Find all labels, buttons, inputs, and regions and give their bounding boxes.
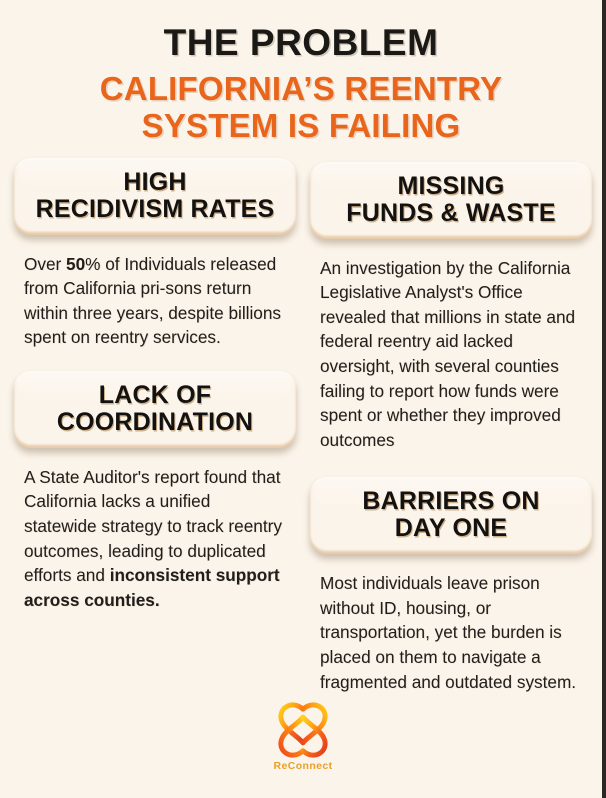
card-heading-line-1: LACK OF	[26, 382, 284, 409]
page-subtitle: CALIFORNIA’S REENTRY SYSTEM IS FAILING	[0, 70, 602, 145]
card-heading-line-2: DAY ONE	[322, 515, 580, 542]
card-heading-barriers-on-day-one: BARRIERS ON DAY ONE	[310, 477, 592, 554]
page-title: THE PROBLEM	[0, 24, 602, 63]
footer-branding: ReConnect	[0, 701, 606, 772]
body-pre: Over	[24, 254, 66, 274]
card-heading-line-2: RECIDIVISM RATES	[26, 196, 284, 223]
body-post: Most individuals leave prison without ID…	[320, 573, 576, 691]
card-body-missing-funds-and-waste: An investigation by the California Legis…	[310, 256, 592, 453]
card-body-barriers-on-day-one: Most individuals leave prison without ID…	[310, 571, 592, 694]
card-heading-missing-funds-and-waste: MISSING FUNDS & WASTE	[310, 162, 592, 239]
page-title-block: THE PROBLEM CALIFORNIA’S REENTRY SYSTEM …	[0, 0, 602, 145]
card-heading-line-1: HIGH	[26, 169, 284, 196]
page-subtitle-line-2: SYSTEM IS FAILING	[0, 107, 602, 145]
infographic-page: THE PROBLEM CALIFORNIA’S REENTRY SYSTEM …	[0, 0, 606, 798]
body-highlight: 50	[66, 254, 85, 274]
page-subtitle-line-1: CALIFORNIA’S REENTRY	[0, 70, 602, 108]
card-heading-lack-of-coordination: LACK OF COORDINATION	[14, 371, 296, 448]
card-body-lack-of-coordination: A State Auditor's report found that Cali…	[14, 465, 296, 613]
body-post: An investigation by the California Legis…	[320, 258, 575, 450]
card-heading-line-1: BARRIERS ON	[322, 488, 580, 515]
card-body-high-recidivism-rates: Over 50% of Individuals released from Ca…	[14, 252, 296, 350]
card-heading-line-2: FUNDS & WASTE	[322, 200, 580, 227]
reconnect-knot-icon	[272, 701, 334, 759]
card-heading-line-2: COORDINATION	[26, 409, 284, 436]
card-heading-high-recidivism-rates: HIGH RECIDIVISM RATES	[14, 158, 296, 235]
logo-wordmark: ReConnect	[273, 760, 332, 772]
card-heading-line-1: MISSING	[322, 173, 580, 200]
left-column: HIGH RECIDIVISM RATES Over 50% of Indivi…	[14, 158, 296, 628]
right-column: MISSING FUNDS & WASTE An investigation b…	[310, 158, 592, 710]
content-columns: HIGH RECIDIVISM RATES Over 50% of Indivi…	[0, 158, 606, 710]
